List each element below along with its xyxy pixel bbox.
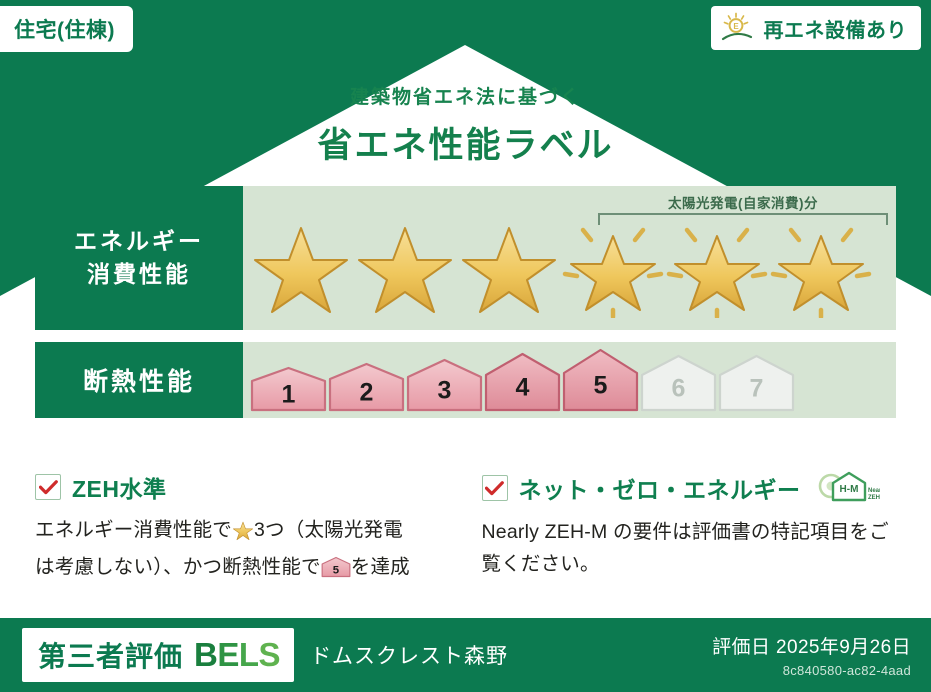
star-filled-solar [769, 218, 873, 318]
insulation-grade-4-value: 4 [483, 373, 562, 402]
inline-grade-house-icon: 5 [321, 556, 351, 589]
insulation-grade-5-value: 5 [561, 371, 640, 400]
bels-letter-l: L [239, 636, 259, 673]
solar-sun-icon: E [721, 12, 755, 44]
insulation-grade-1-value: 1 [249, 380, 328, 409]
zeh-m-logo: H-M Nearly ZEH-M [818, 470, 880, 506]
bels-letter-b: B [194, 636, 217, 673]
page-subtitle: 建築物省エネ法に基づく [0, 82, 931, 109]
evaluation-meta: 評価日 2025年9月26日 8c840580-ac82-4aad [712, 632, 911, 678]
zeh-m-logo-sub2: ZEH-M [868, 495, 880, 501]
check-icon [485, 481, 504, 496]
renewable-equipment-badge: E 再エネ設備あり [711, 6, 922, 50]
evaluation-date-label: 評価日 [712, 637, 770, 658]
zeh-m-logo-text: H-M [839, 484, 858, 495]
zeh-desc-part3: を達成 [351, 556, 410, 578]
zeh-desc-starcount: 3つ（太陽光発電 [254, 519, 403, 541]
zeh-standard-checkbox[interactable] [35, 474, 61, 500]
insulation-grade-scale: 1 2 3 [249, 347, 795, 413]
net-zero-energy-description: Nearly ZEH-M の要件は評価書の特記項目をご覧ください。 [482, 517, 897, 580]
zeh-desc-part2: は考慮しない）、かつ断熱性能で [35, 556, 321, 578]
star-filled [457, 218, 561, 318]
building-name: ドムスクレスト森野 [310, 640, 508, 670]
star-filled-solar [561, 218, 665, 318]
insulation-grade-3-value: 3 [405, 376, 484, 405]
svg-text:E: E [733, 22, 739, 31]
energy-label-line1: エネルギー [74, 225, 204, 258]
energy-performance-row: エネルギー 消費性能 太陽光発電(自家消費)分 [35, 186, 896, 330]
insulation-grade-7-value: 7 [717, 374, 796, 403]
evaluation-date-value: 2025年9月26日 [776, 637, 911, 658]
insulation-grade-1: 1 [249, 365, 328, 413]
insulation-grade-2: 2 [327, 361, 406, 413]
energy-performance-label: エネルギー 消費性能 [35, 186, 243, 330]
page-title: 省エネ性能ラベル [0, 117, 931, 168]
zeh-desc-part1: エネルギー消費性能で [35, 519, 232, 541]
energy-stars-body: 太陽光発電(自家消費)分 [243, 186, 896, 330]
building-type-chip: 住宅(住棟) [0, 6, 133, 52]
bels-wordmark: BELS [194, 636, 280, 674]
third-party-eval-label: 第三者評価 [38, 635, 183, 675]
page-title-block: 建築物省エネ法に基づく 省エネ性能ラベル [0, 82, 931, 168]
energy-label-line2: 消費性能 [87, 258, 191, 291]
building-type-label: 住宅(住棟) [14, 19, 115, 42]
insulation-grade-3: 3 [405, 357, 484, 413]
insulation-grade-6: 6 [639, 353, 718, 413]
inline-star-icon [232, 520, 254, 552]
energy-star-rating [243, 218, 896, 318]
inline-grade-value: 5 [333, 564, 340, 576]
net-zero-energy-title: ネット・ゼロ・エネルギー [519, 471, 801, 505]
insulation-grade-7: 7 [717, 353, 796, 413]
bels-letter-s: S [259, 636, 281, 673]
insulation-grades-body: 1 2 3 [243, 342, 896, 418]
insulation-grade-4: 4 [483, 351, 562, 413]
zeh-standard-description: エネルギー消費性能で 3つ（太陽光発電 は考慮しない）、かつ断熱性能で 5 を達… [35, 515, 448, 588]
insulation-grade-2-value: 2 [327, 378, 406, 407]
evaluation-date-line: 評価日 2025年9月26日 [712, 632, 911, 659]
star-filled [249, 218, 353, 318]
star-filled-solar [665, 218, 769, 318]
zeh-m-logo-sub1: Nearly [868, 488, 880, 494]
zeh-standard-block: ZEH水準 エネルギー消費性能で 3つ（太陽光発電 は考慮しない）、かつ断熱性能… [35, 470, 466, 588]
insulation-label-text: 断熱性能 [83, 362, 195, 398]
zeh-standard-title: ZEH水準 [72, 470, 167, 504]
net-zero-energy-block: ネット・ゼロ・エネルギー H-M Nearly ZEH-M Nearly ZEH… [466, 470, 897, 588]
net-zero-energy-heading: ネット・ゼロ・エネルギー H-M Nearly ZEH-M [482, 470, 897, 506]
insulation-grade-5: 5 [561, 347, 640, 413]
check-icon [39, 480, 58, 495]
renewable-badge-label: 再エネ設備あり [764, 14, 908, 43]
net-zero-energy-checkbox[interactable] [482, 475, 508, 501]
footer-bar: 第三者評価 BELS ドムスクレスト森野 評価日 2025年9月26日 8c84… [0, 618, 931, 692]
insulation-performance-row: 断熱性能 1 2 [35, 342, 896, 418]
star-filled [353, 218, 457, 318]
solar-annotation-label: 太陽光発電(自家消費)分 [598, 192, 888, 212]
zeh-standard-heading: ZEH水準 [35, 470, 448, 504]
bels-letter-e: E [217, 636, 239, 673]
insulation-performance-label: 断熱性能 [35, 342, 243, 418]
criteria-info-section: ZEH水準 エネルギー消費性能で 3つ（太陽光発電 は考慮しない）、かつ断熱性能… [35, 470, 896, 588]
insulation-grade-6-value: 6 [639, 374, 718, 403]
bels-logo-box: 第三者評価 BELS [22, 628, 294, 682]
evaluation-id: 8c840580-ac82-4aad [712, 663, 911, 678]
